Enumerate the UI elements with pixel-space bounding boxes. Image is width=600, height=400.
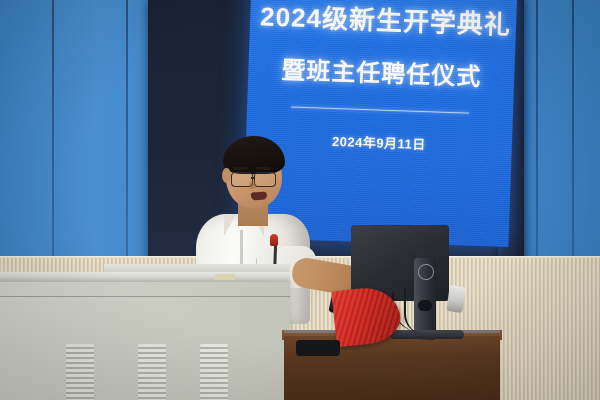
slide-title-line-1: 2024级新生开学典礼 [260, 2, 507, 39]
wall-seam [126, 0, 128, 268]
wall-seam [52, 0, 54, 268]
cabinet-vent [138, 344, 166, 400]
glasses-bridge [251, 177, 254, 179]
dell-logo-icon [418, 264, 434, 280]
presentation-screen: 2024级新生开学典礼 暨班主任聘任仪式 2024年9月11日 [243, 0, 518, 247]
slide-date: 2024年9月11日 [256, 128, 503, 156]
slide-divider [291, 106, 469, 113]
speaker-eyebrow-left [233, 167, 248, 170]
desk-black-device [296, 340, 340, 356]
cabinet-vent [200, 344, 228, 400]
glasses-lens-right [254, 172, 276, 187]
speaker-ear [222, 168, 231, 183]
microphone-head-icon [270, 234, 278, 246]
equipment-cabinet [0, 282, 290, 400]
monitor-base [390, 330, 464, 339]
shirt-collar-left [224, 214, 236, 236]
wall-seam [572, 0, 574, 268]
wall-seam [536, 0, 538, 268]
cabinet-label-tape [215, 274, 235, 280]
slide-title-line-2: 暨班主任聘任仪式 [258, 57, 505, 92]
cabinet-vent [66, 344, 94, 400]
cabinet-seam [0, 296, 290, 297]
speaker-eyebrow-right [256, 167, 271, 170]
photo-scene: 2024级新生开学典礼 暨班主任聘任仪式 2024年9月11日 [0, 0, 600, 400]
speaker-nose [249, 181, 256, 189]
